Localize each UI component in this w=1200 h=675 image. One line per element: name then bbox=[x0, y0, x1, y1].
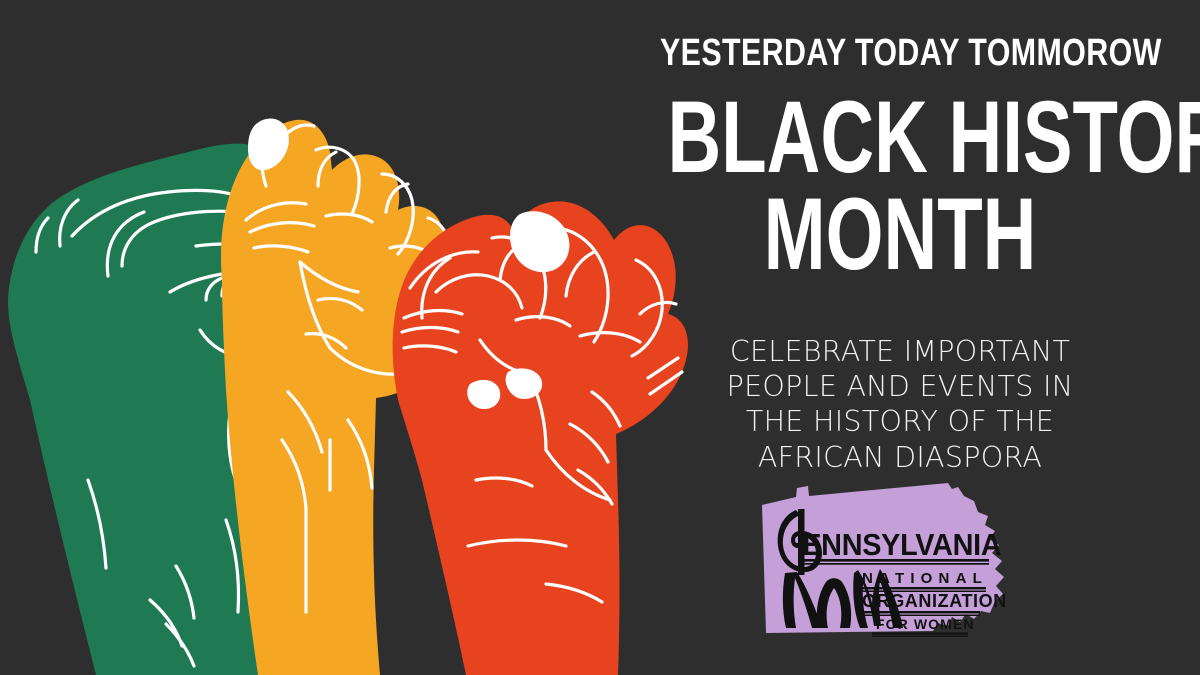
pennsylvania-now-logo-svg: ENNSYLVANIA NATIONAL bbox=[752, 483, 1014, 639]
poster-headline-line-2: MONTH bbox=[668, 192, 1133, 279]
poster-eyebrow: YESTERDAY TODAY TOMMOROW bbox=[660, 34, 1140, 72]
logo-line-organization: ORGANIZATION bbox=[862, 591, 1007, 611]
body-line-1: CELEBRATE IMPORTANT bbox=[660, 334, 1140, 369]
poster-body-copy: CELEBRATE IMPORTANT PEOPLE AND EVENTS IN… bbox=[660, 334, 1140, 475]
text-column: YESTERDAY TODAY TOMMOROW BLACK HISTORY M… bbox=[600, 0, 1200, 675]
logo-wordmark-pennsylvania: ENNSYLVANIA bbox=[802, 528, 1001, 562]
poster-headline-line-1: BLACK HISTORY bbox=[668, 95, 1133, 182]
body-line-4: AFRICAN DIASPORA bbox=[660, 440, 1140, 475]
poster-canvas: YESTERDAY TODAY TOMMOROW BLACK HISTORY M… bbox=[0, 0, 1200, 675]
pennsylvania-now-logo[interactable]: ENNSYLVANIA NATIONAL bbox=[752, 483, 1014, 639]
logo-line-for-women: FOR WOMEN bbox=[876, 616, 975, 632]
fist-orange bbox=[221, 118, 462, 675]
body-line-3: THE HISTORY OF THE bbox=[660, 404, 1140, 439]
fist-green bbox=[8, 144, 352, 675]
logo-line-national: NATIONAL bbox=[862, 570, 988, 587]
body-line-2: PEOPLE AND EVENTS IN bbox=[660, 369, 1140, 404]
